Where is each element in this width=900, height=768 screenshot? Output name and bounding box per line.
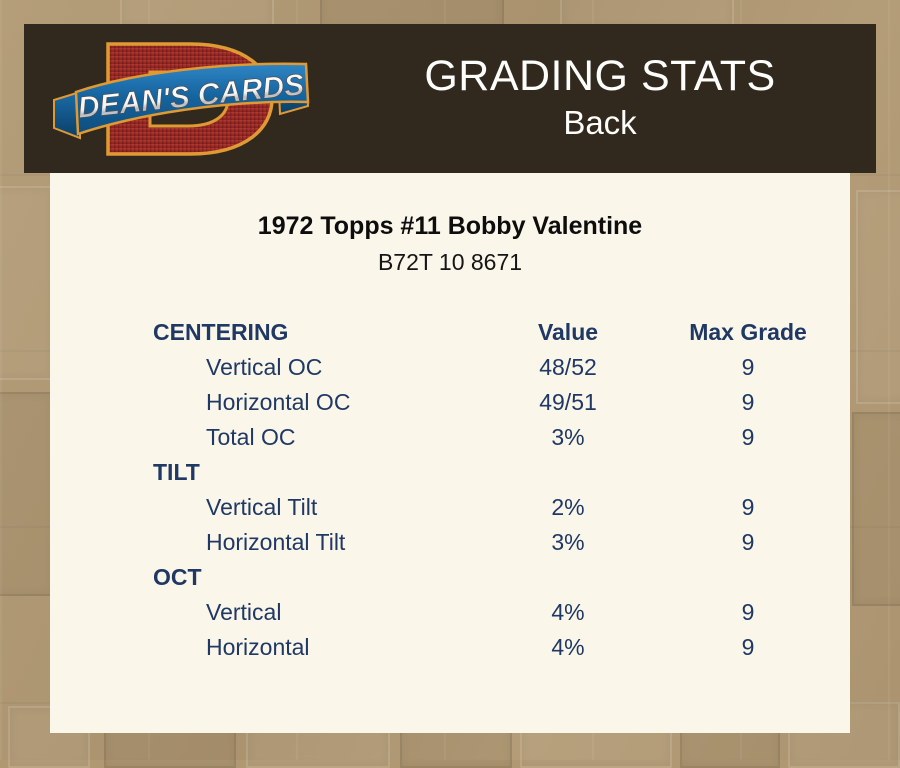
stat-label: Horizontal OC xyxy=(206,385,350,420)
stat-label: CENTERING xyxy=(153,315,288,350)
table-row: Vertical OC48/529 xyxy=(153,350,843,385)
table-row: Horizontal OC49/519 xyxy=(153,385,843,420)
table-row: Total OC3%9 xyxy=(153,420,843,455)
stat-max-grade: 9 xyxy=(658,595,838,630)
deans-cards-logo[interactable]: DEAN'S CARDS xyxy=(50,28,314,170)
stat-max-grade: 9 xyxy=(658,420,838,455)
stat-max-grade: Max Grade xyxy=(658,315,838,350)
stat-label: Total OC xyxy=(206,420,295,455)
stat-label: OCT xyxy=(153,560,202,595)
table-section-row: TILT xyxy=(153,455,843,490)
table-row: Vertical Tilt2%9 xyxy=(153,490,843,525)
stat-value: 4% xyxy=(483,630,653,665)
stat-value: Value xyxy=(483,315,653,350)
page-header: DEAN'S CARDS GRADING STATS Back xyxy=(24,24,876,173)
stat-max-grade: 9 xyxy=(658,350,838,385)
table-row: Horizontal Tilt3%9 xyxy=(153,525,843,560)
page-subtitle: Back xyxy=(563,103,636,143)
stat-label: TILT xyxy=(153,455,200,490)
card-identifier: B72T 10 8671 xyxy=(50,249,850,276)
table-row: Vertical4%9 xyxy=(153,595,843,630)
stat-max-grade: 9 xyxy=(658,630,838,665)
stat-value: 49/51 xyxy=(483,385,653,420)
page-title: GRADING STATS xyxy=(424,54,775,99)
stat-value: 48/52 xyxy=(483,350,653,385)
background-card-ghost xyxy=(852,412,900,606)
grading-stats-table: CENTERINGValueMax GradeVertical OC48/529… xyxy=(153,315,843,665)
content-panel: 1972 Topps #11 Bobby Valentine B72T 10 8… xyxy=(50,173,850,733)
stat-value: 4% xyxy=(483,595,653,630)
background-card-ghost xyxy=(856,190,900,404)
table-section-row: OCT xyxy=(153,560,843,595)
stat-label: Vertical OC xyxy=(206,350,322,385)
table-row: Horizontal4%9 xyxy=(153,630,843,665)
stat-max-grade: 9 xyxy=(658,525,838,560)
background-card-ghost xyxy=(0,392,54,596)
stat-label: Horizontal Tilt xyxy=(206,525,345,560)
stat-value: 3% xyxy=(483,525,653,560)
table-section-row: CENTERINGValueMax Grade xyxy=(153,315,843,350)
card-title: 1972 Topps #11 Bobby Valentine xyxy=(50,212,850,241)
header-title-group: GRADING STATS Back xyxy=(324,24,876,173)
stat-label: Vertical xyxy=(206,595,281,630)
stat-value: 2% xyxy=(483,490,653,525)
stat-max-grade: 9 xyxy=(658,385,838,420)
stat-value: 3% xyxy=(483,420,653,455)
stat-max-grade: 9 xyxy=(658,490,838,525)
stat-label: Horizontal xyxy=(206,630,310,665)
background-card-ghost xyxy=(0,186,54,380)
stat-label: Vertical Tilt xyxy=(206,490,317,525)
